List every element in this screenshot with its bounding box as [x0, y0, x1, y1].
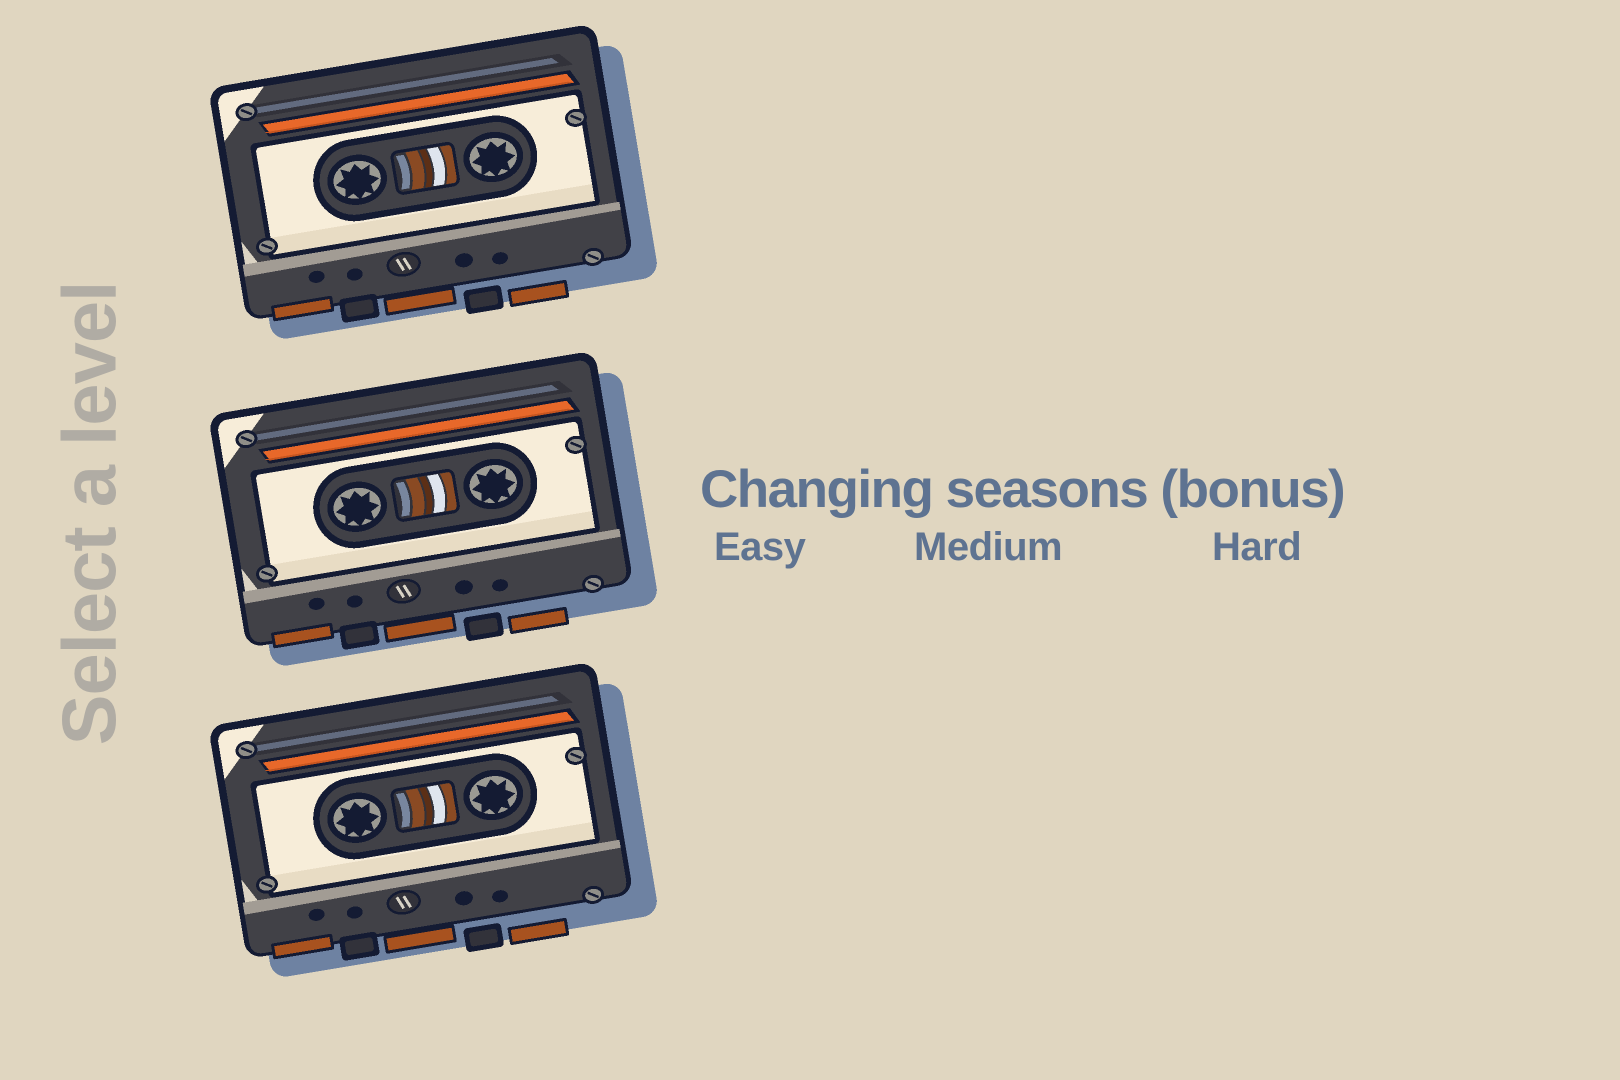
difficulty-option-hard[interactable]: Hard: [1212, 525, 1412, 570]
level-detail-panel: Changing seasons (bonus) Easy Medium Har…: [700, 462, 1560, 570]
level-title: Changing seasons (bonus): [700, 462, 1560, 517]
difficulty-selector: Easy Medium Hard: [714, 525, 1560, 570]
level-item-3[interactable]: 3: [205, 663, 665, 1013]
difficulty-option-medium[interactable]: Medium: [914, 525, 1212, 570]
level-item-1[interactable]: 1: [205, 25, 665, 375]
game-level-select-screen: Select a level: [0, 0, 1620, 1080]
difficulty-option-easy[interactable]: Easy: [714, 525, 914, 570]
level-list: 1: [0, 0, 700, 1080]
level-item-2[interactable]: 2: [205, 352, 665, 702]
cassette-tape-icon[interactable]: [205, 352, 665, 702]
cassette-tape-icon[interactable]: [205, 25, 665, 375]
cassette-tape-icon[interactable]: [205, 663, 665, 1013]
